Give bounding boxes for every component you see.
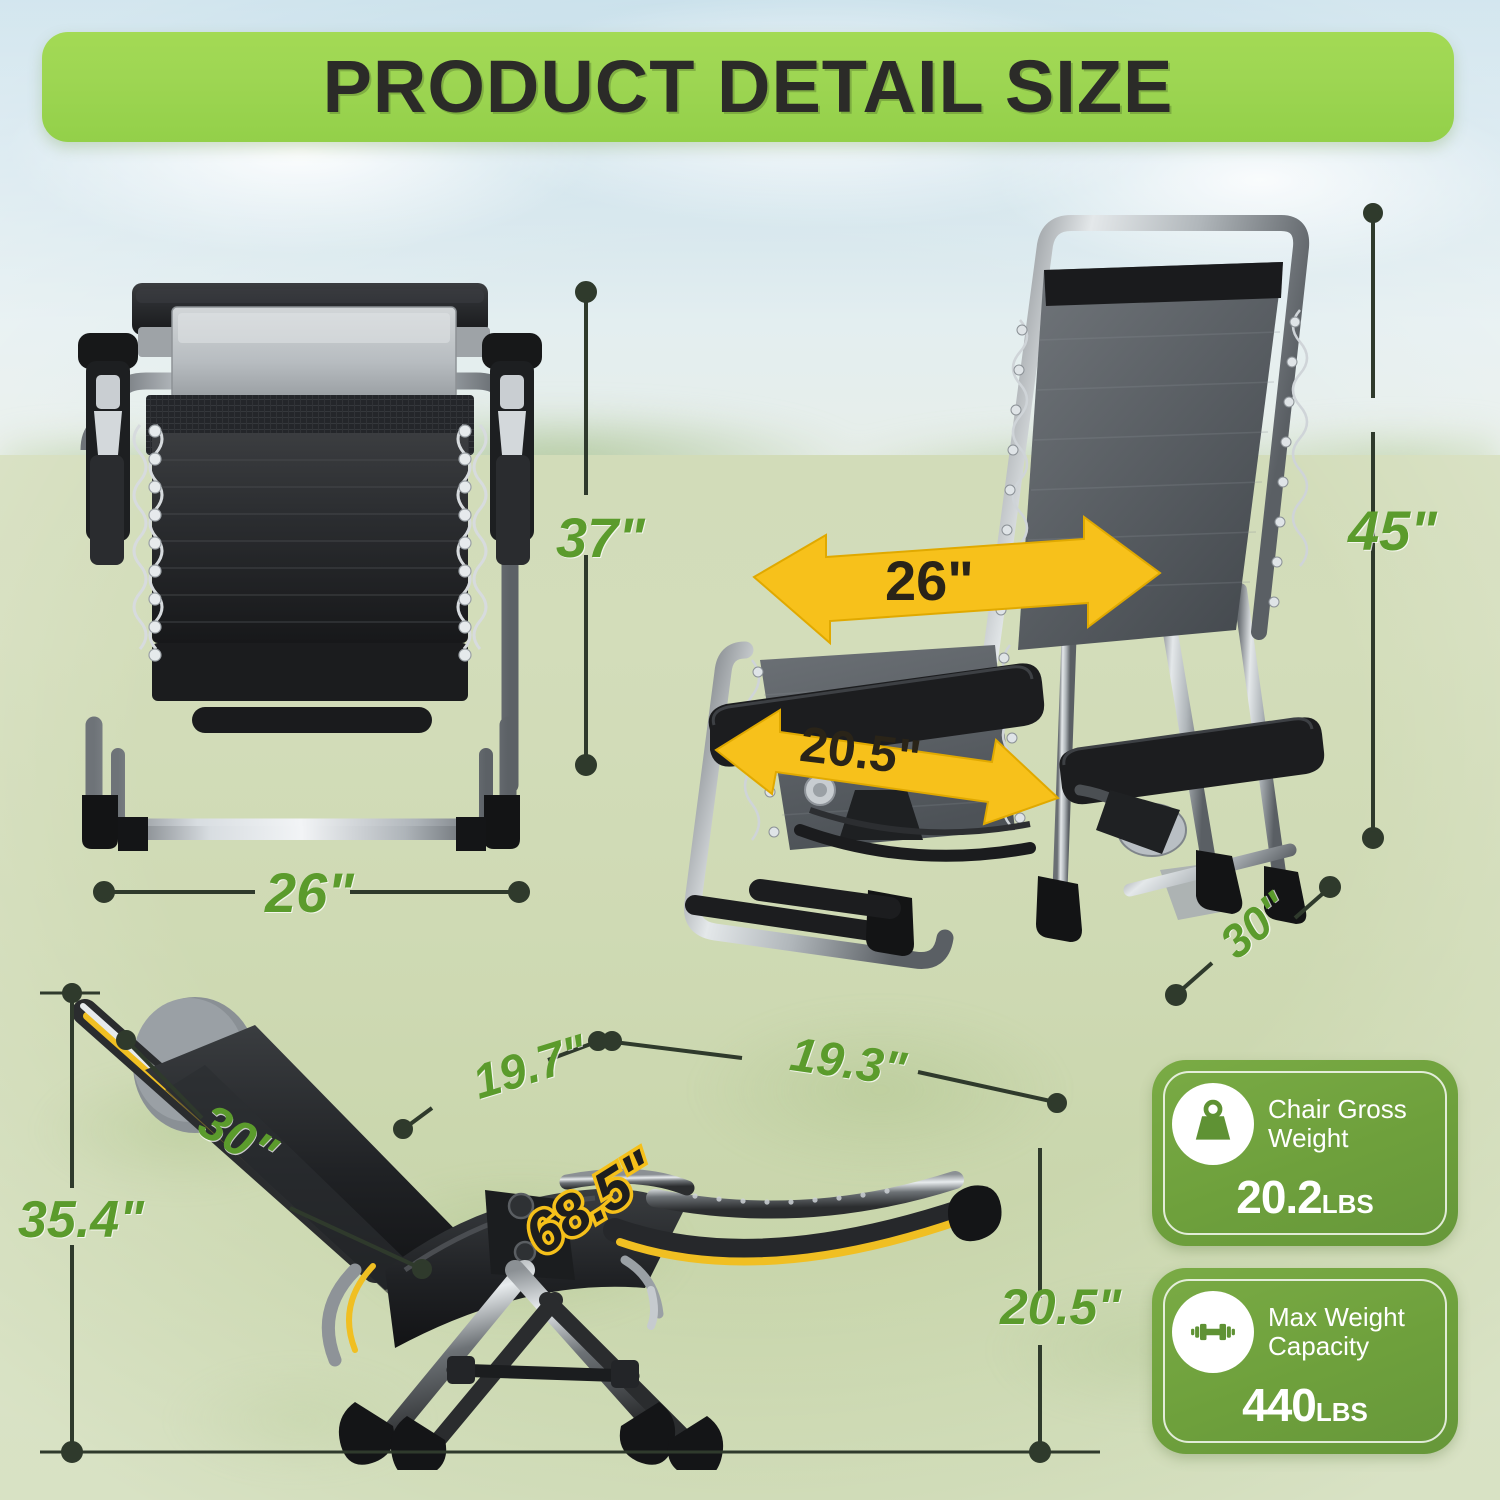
badge-value-unit: LBS — [1316, 1397, 1368, 1427]
dim-label-folded-width: 26" — [265, 860, 354, 925]
badge-value-number: 20.2 — [1236, 1171, 1322, 1223]
weight-block-icon — [1172, 1083, 1254, 1165]
page-title: PRODUCT DETAIL SIZE — [323, 50, 1174, 124]
dim-label-reclined-height: 35.4" — [18, 1190, 144, 1250]
badge-header: Chair Gross Weight — [1172, 1076, 1442, 1172]
arrow-label-seat-armrest-width: 26" — [885, 548, 974, 613]
badge-value-row: 20.2LBS — [1152, 1170, 1458, 1224]
header-banner: PRODUCT DETAIL SIZE — [42, 32, 1454, 142]
badge-label: Chair Gross Weight — [1268, 1095, 1442, 1153]
spec-badges: Chair Gross Weight 20.2LBS Max Weight Ca… — [1152, 1060, 1458, 1476]
badge-label: Max Weight Capacity — [1268, 1303, 1442, 1361]
badge-header: Max Weight Capacity — [1172, 1284, 1442, 1380]
badge-value-unit: LBS — [1322, 1189, 1374, 1219]
badge-value-row: 440LBS — [1152, 1378, 1458, 1432]
dim-label-folded-height: 37" — [556, 505, 645, 570]
dim-label-overall-height: 45" — [1348, 498, 1437, 563]
badge-max-weight-capacity: Max Weight Capacity 440LBS — [1152, 1268, 1458, 1454]
dumbbell-icon — [1172, 1291, 1254, 1373]
dim-label-seat-height: 20.5" — [1000, 1278, 1121, 1336]
folded-chair-front-view — [60, 255, 560, 865]
badge-value-number: 440 — [1242, 1379, 1316, 1431]
badge-chair-gross-weight: Chair Gross Weight 20.2LBS — [1152, 1060, 1458, 1246]
